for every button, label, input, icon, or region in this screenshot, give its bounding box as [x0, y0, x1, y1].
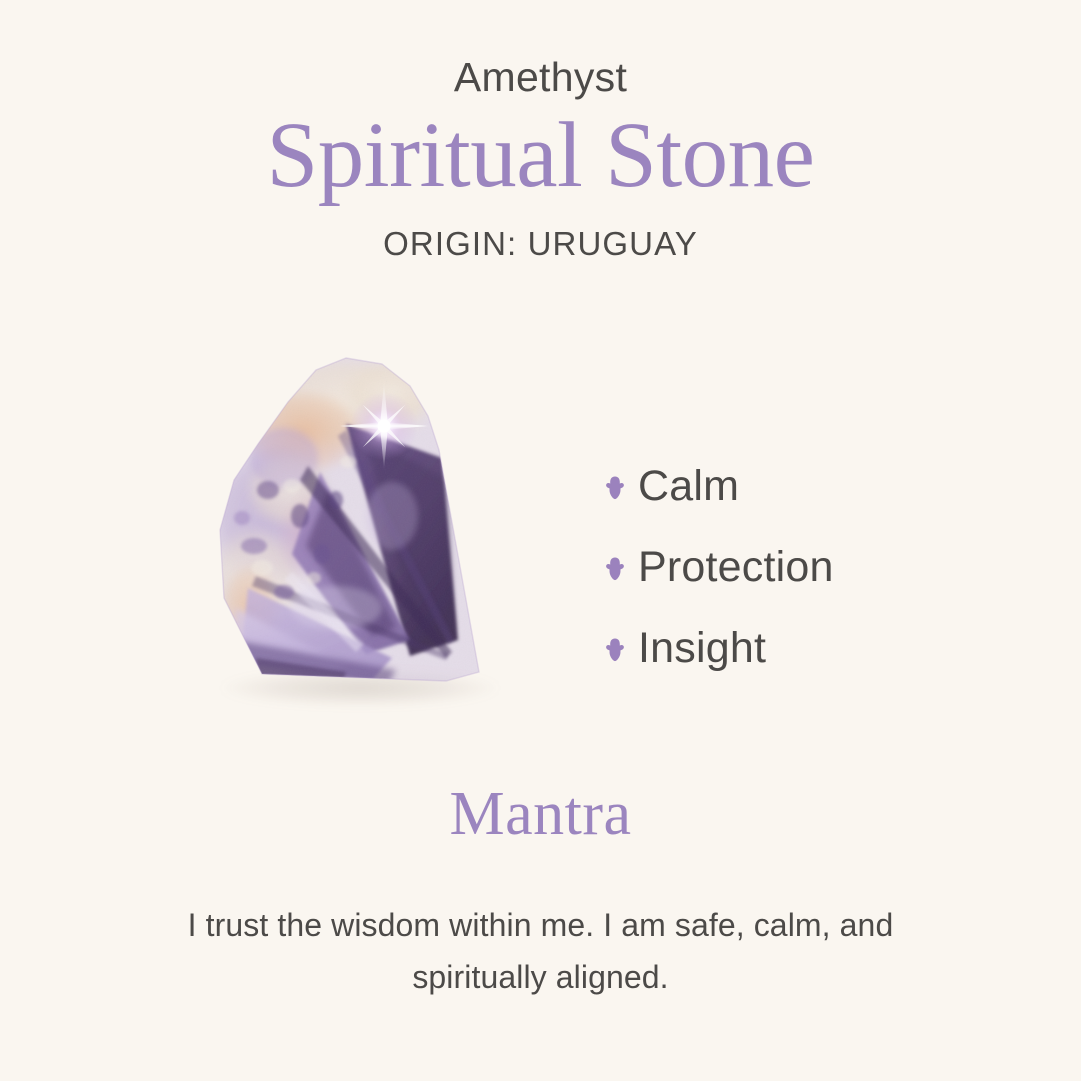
mantra-section: Mantra I trust the wisdom within me. I a… [0, 780, 1081, 1004]
origin-label: ORIGIN: URUGUAY [0, 225, 1081, 263]
crystal-info-card: Amethyst Spiritual Stone ORIGIN: URUGUAY [0, 0, 1081, 1081]
crystal-illustration [196, 340, 516, 720]
benefit-item: Insight [604, 608, 1024, 689]
gem-bullet-icon [604, 556, 626, 582]
amethyst-crystal-icon [196, 340, 516, 720]
mantra-text: I trust the wisdom within me. I am safe,… [181, 900, 901, 1004]
gem-bullet-icon [604, 475, 626, 501]
page-title: Spiritual Stone [0, 101, 1081, 211]
benefit-label: Insight [638, 627, 766, 670]
benefit-label: Calm [638, 465, 739, 508]
benefit-label: Protection [638, 546, 834, 589]
benefit-item: Protection [604, 527, 1024, 608]
gem-bullet-icon [604, 637, 626, 663]
card-header: Amethyst Spiritual Stone ORIGIN: URUGUAY [0, 56, 1081, 263]
benefits-list: Calm Protection Insight [604, 446, 1024, 689]
mantra-heading: Mantra [0, 780, 1081, 848]
benefit-item: Calm [604, 446, 1024, 527]
stone-name: Amethyst [0, 56, 1081, 99]
